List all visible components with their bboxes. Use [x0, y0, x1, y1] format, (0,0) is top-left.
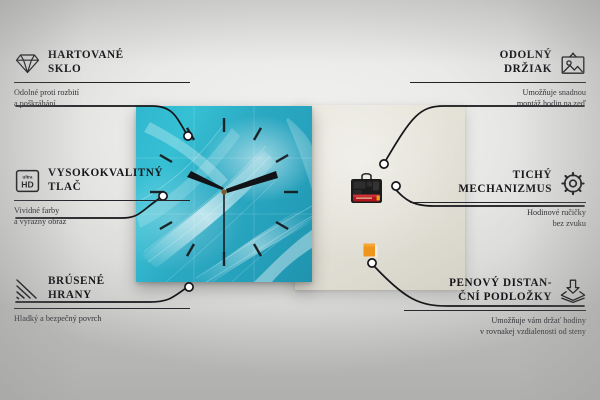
- feature-description: Hodinové ručičky bez zvuku: [410, 207, 586, 230]
- feature-description: Odolné proti rozbití a poškrábání: [14, 87, 190, 110]
- feature-title: ODOLNÝ DRŽIAK: [500, 49, 552, 76]
- feature-header: PENOVÝ DISTAN- ČNÍ PODLOŽKY: [404, 276, 586, 306]
- feature-header: BRÚSENÉ HRANY: [14, 274, 190, 304]
- svg-text:HD: HD: [21, 180, 33, 190]
- ultra-hd-icon: ultra HD: [14, 168, 41, 195]
- feature-header: HARTOVANÉ SKLO: [14, 48, 190, 78]
- divider: [410, 202, 586, 203]
- foam-spacer-pad: [363, 243, 378, 259]
- feature-ground-edges: BRÚSENÉ HRANY Hladký a bezpečný povrch: [14, 274, 190, 324]
- feature-silent-mechanism: TICHÝ MECHANIZMUS Hodinové ručičky bez z…: [410, 168, 586, 230]
- divider: [14, 308, 190, 309]
- press-down-layers-icon: [559, 278, 586, 305]
- feature-high-quality-print: ultra HD VYSOKOKVALITNÝ TLAČ Vividné far…: [14, 166, 190, 228]
- feature-title: TICHÝ MECHANIZMUS: [458, 169, 552, 196]
- feature-header: ODOLNÝ DRŽIAK: [410, 48, 586, 78]
- feature-description: Umožňuje vám držať hodiny v rovnakej vzd…: [404, 315, 586, 338]
- feature-title: HARTOVANÉ SKLO: [48, 49, 124, 76]
- feature-description: Umožňuje snadnou montáž hodin na zeď: [410, 87, 586, 110]
- feature-header: TICHÝ MECHANIZMUS: [410, 168, 586, 198]
- gear-icon: [559, 170, 586, 197]
- bevel-lines-icon: [14, 276, 41, 303]
- feature-tempered-glass: HARTOVANÉ SKLO Odolné proti rozbití a po…: [14, 48, 190, 110]
- diamond-icon: [14, 50, 41, 77]
- feature-title: BRÚSENÉ HRANY: [48, 275, 105, 302]
- divider: [410, 82, 586, 83]
- feature-durable-hanger: ODOLNÝ DRŽIAK Umožňuje snadnou montáž ho…: [410, 48, 586, 110]
- feature-foam-spacers: PENOVÝ DISTAN- ČNÍ PODLOŽKY Umožňuje vám…: [404, 276, 586, 338]
- divider: [404, 310, 586, 311]
- feature-title: PENOVÝ DISTAN- ČNÍ PODLOŽKY: [449, 277, 552, 304]
- feature-description: Hladký a bezpečný povrch: [14, 313, 190, 324]
- clock-mechanism: [349, 172, 384, 210]
- feature-description: Vividné farby a výrazný obraz: [14, 205, 190, 228]
- divider: [14, 82, 190, 83]
- divider: [14, 200, 190, 201]
- infographic-canvas: HARTOVANÉ SKLO Odolné proti rozbití a po…: [0, 0, 600, 400]
- feature-title: VYSOKOKVALITNÝ TLAČ: [48, 167, 163, 194]
- framed-picture-hanger-icon: [559, 50, 586, 77]
- feature-header: ultra HD VYSOKOKVALITNÝ TLAČ: [14, 166, 190, 196]
